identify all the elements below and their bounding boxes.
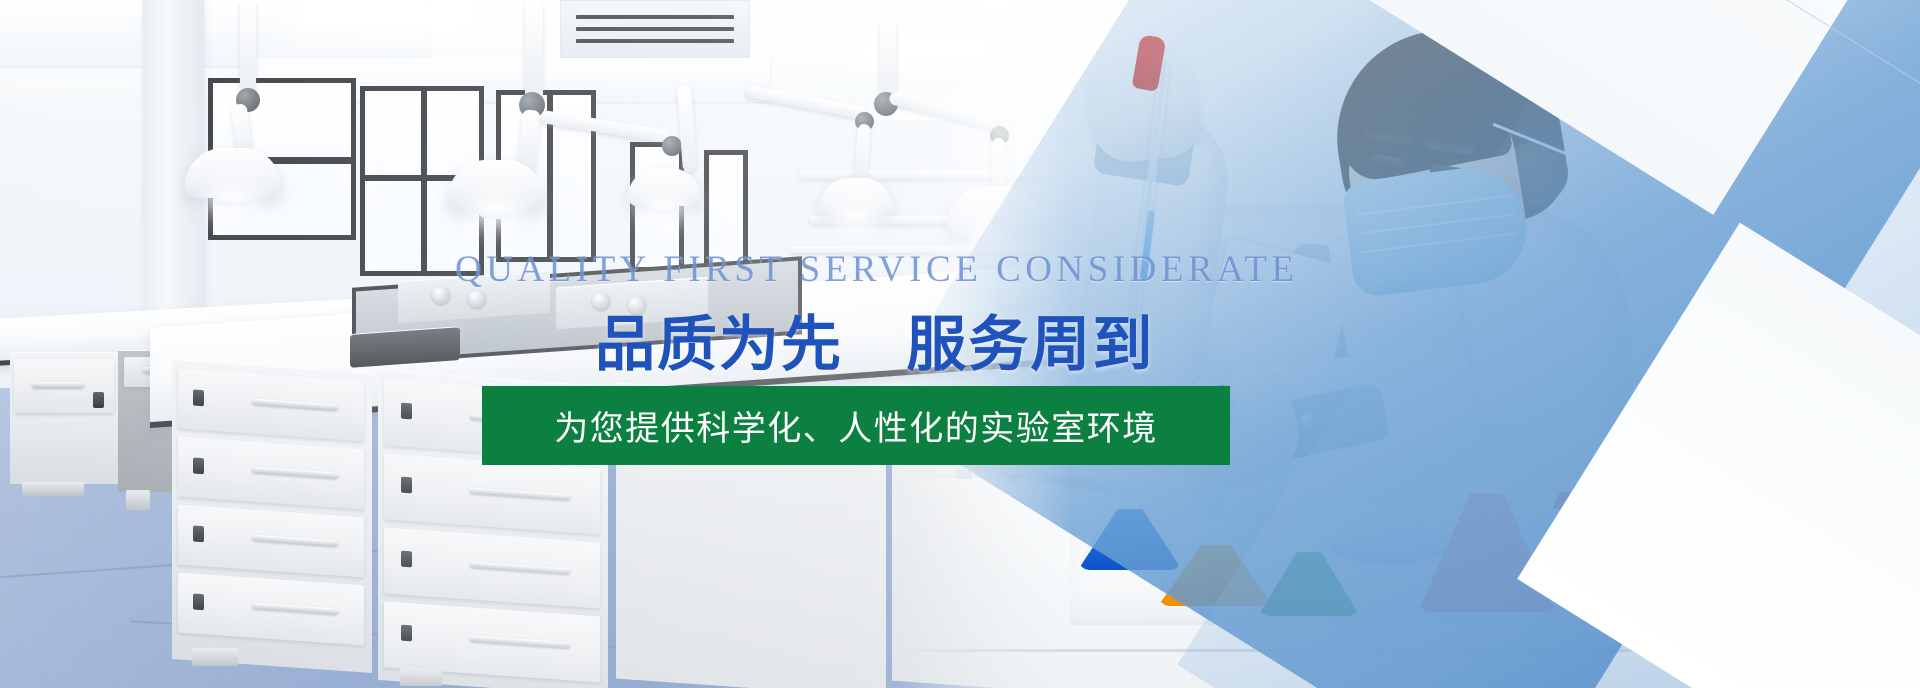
headline-part-2: 服务周到: [906, 311, 1154, 378]
test-tube-row: [1552, 492, 1724, 509]
extractor-arm: [880, 20, 896, 100]
extractor-arm: [240, 0, 256, 96]
service-knob: [468, 290, 486, 308]
dome-lamp: [185, 148, 281, 198]
extractor-arm: [525, 0, 543, 100]
desk-edge: [900, 649, 1920, 652]
flask-green: [1258, 506, 1360, 616]
small-item: [1008, 474, 1019, 483]
cabinet-foot: [126, 490, 150, 510]
dome-lamp: [448, 160, 544, 210]
cabinet-foot: [400, 668, 442, 686]
dome-lamp: [820, 178, 892, 216]
subtitle-green-bar: 为您提供科学化、人性化的实验室环境: [482, 386, 1230, 465]
test-tube-row: [1560, 514, 1732, 531]
cabinet-foot: [22, 482, 84, 496]
small-item: [956, 470, 972, 479]
cuff-button: [1300, 414, 1313, 427]
cabinet-foot: [192, 648, 238, 666]
eyebrow-english-tagline: QUALITY FIRST SERVICE CONSIDERATE: [455, 248, 1298, 291]
flask-pink: [1418, 426, 1556, 612]
bench-cabinet: [10, 352, 120, 484]
surgical-mask: [1342, 162, 1533, 299]
lab-hero-banner: QUALITY FIRST SERVICE CONSIDERATE 品质为先 服…: [0, 0, 1920, 688]
service-knob: [432, 286, 450, 304]
petri-dish: [1330, 524, 1450, 564]
ceiling-light: [300, 10, 470, 28]
headline: 品质为先 服务周到: [595, 296, 1154, 383]
scientist-head: [1330, 30, 1558, 298]
extractor-joint: [662, 136, 682, 156]
drawer-stack: [172, 359, 372, 673]
subtitle-text: 为您提供科学化、人性化的实验室环境: [554, 401, 1158, 450]
flask-orange: [1158, 488, 1274, 606]
dome-lamp: [628, 168, 700, 206]
headline-part-1: 品质为先: [595, 311, 843, 378]
air-conditioner-vent: [560, 0, 750, 58]
